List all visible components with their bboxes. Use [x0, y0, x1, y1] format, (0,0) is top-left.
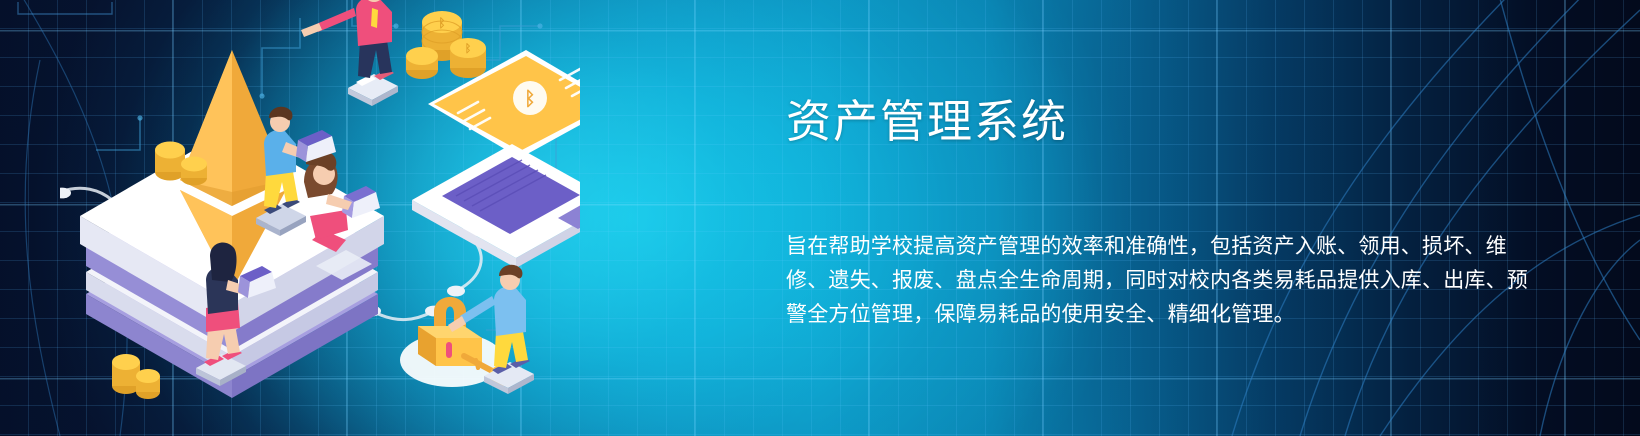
description-line-1: 旨在帮助学校提高资产管理的效率和准确性，包括资产入账、领用、损坏、维: [786, 230, 1476, 264]
person-pointing-icon: [301, 0, 398, 106]
svg-text:ᛒ: ᛒ: [438, 16, 445, 30]
banner-copy: 资产管理系统 旨在帮助学校提高资产管理的效率和准确性，包括资产入账、领用、损坏、…: [786, 96, 1486, 332]
page-title: 资产管理系统: [786, 96, 1486, 148]
description-line-3: 警全方位管理，保障易耗品的使用安全、精细化管理。: [786, 298, 1476, 332]
isometric-blockchain-illustration: ᛒ: [60, 0, 580, 436]
svg-text:ᛒ: ᛒ: [524, 89, 535, 110]
coin-stack-icon: ᛒ ᛒ: [406, 11, 486, 79]
page-description: 旨在帮助学校提高资产管理的效率和准确性，包括资产入账、领用、损坏、维 修、遗失、…: [786, 230, 1476, 332]
svg-text:ᛒ: ᛒ: [465, 43, 472, 55]
asset-management-banner: ᛒ: [0, 0, 1640, 436]
padlock-icon: [400, 297, 504, 387]
coin-stack-icon: [112, 354, 160, 399]
description-line-2: 修、遗失、报废、盘点全生命周期，同时对校内各类易耗品提供入库、出库、预: [786, 264, 1476, 298]
